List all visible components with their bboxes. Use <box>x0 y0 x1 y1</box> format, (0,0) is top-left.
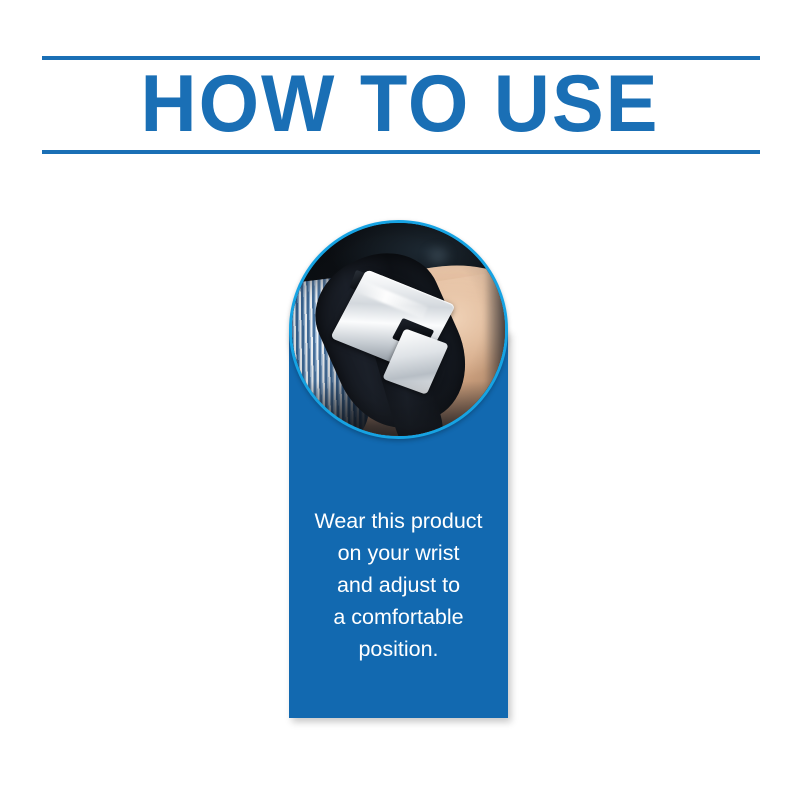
header-block: HOW TO USE <box>0 0 800 175</box>
photo-bokeh-highlight-1 <box>420 246 456 265</box>
caption-line-3: and adjust to <box>293 569 504 601</box>
caption-line-2: on your wrist <box>293 537 504 569</box>
wrist-fitness-tracker-photo <box>292 223 505 436</box>
caption-line-1: Wear this product <box>293 505 504 537</box>
caption-line-5: position. <box>293 633 504 665</box>
caption-line-4: a comfortable <box>293 601 504 633</box>
product-photo-circle <box>289 220 508 439</box>
how-to-use-page: HOW TO USE Wear this product on your wri… <box>0 0 800 800</box>
instruction-caption: Wear this product on your wrist and adju… <box>293 505 504 665</box>
header-divider-bottom <box>42 150 760 154</box>
page-title: HOW TO USE <box>16 60 784 148</box>
photo-lower-shadow <box>292 381 505 436</box>
